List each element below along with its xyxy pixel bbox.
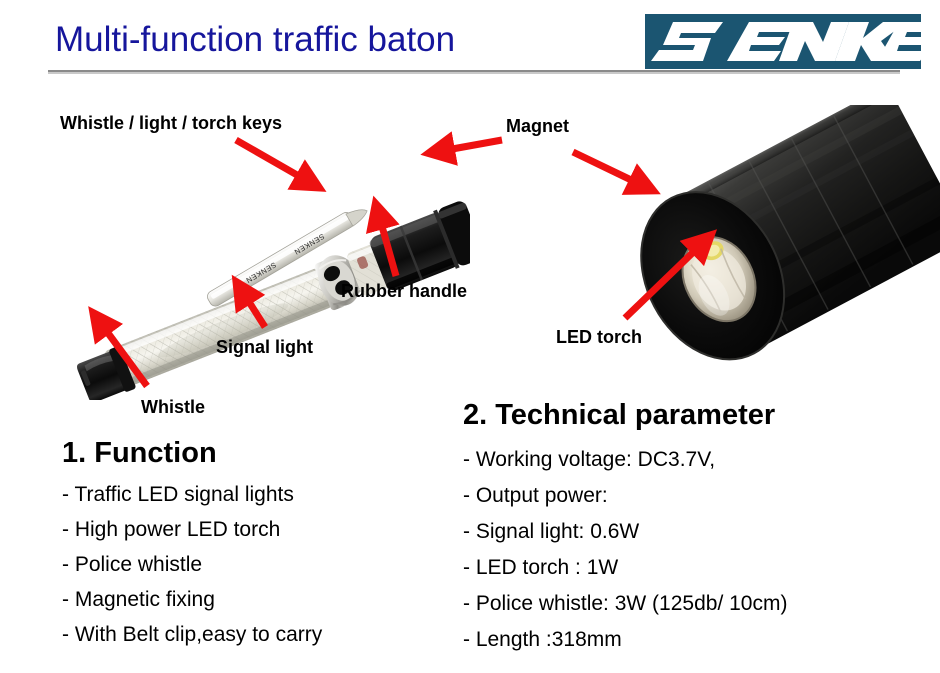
product-photo-torch-head bbox=[620, 105, 940, 395]
label-whistle: Whistle bbox=[141, 397, 205, 418]
technical-item-6: - Length :318mm bbox=[463, 628, 622, 652]
label-signal-light: Signal light bbox=[216, 337, 313, 358]
technical-item-2: - Output power: bbox=[463, 484, 608, 508]
section-heading-technical-parameter: 2. Technical parameter bbox=[463, 399, 775, 432]
label-rubber-handle: Rubber handle bbox=[341, 281, 467, 302]
function-item-2: - High power LED torch bbox=[62, 518, 280, 542]
function-item-5: - With Belt clip,easy to carry bbox=[62, 623, 322, 647]
page-title: Multi-function traffic baton bbox=[55, 20, 455, 60]
function-item-4: - Magnetic fixing bbox=[62, 588, 215, 612]
header-divider bbox=[48, 70, 900, 74]
label-whistle-light-torch-keys: Whistle / light / torch keys bbox=[60, 113, 282, 134]
technical-item-1: - Working voltage: DC3.7V, bbox=[463, 448, 715, 472]
product-photo-baton: SENKEN SENKEN bbox=[50, 120, 470, 400]
section-heading-function: 1. Function bbox=[62, 437, 217, 470]
label-led-torch: LED torch bbox=[556, 327, 642, 348]
slide-root: Multi-function traffic baton bbox=[0, 0, 940, 673]
technical-item-3: - Signal light: 0.6W bbox=[463, 520, 639, 544]
senken-logo bbox=[645, 14, 921, 69]
technical-item-4: - LED torch : 1W bbox=[463, 556, 618, 580]
function-item-1: - Traffic LED signal lights bbox=[62, 483, 294, 507]
label-magnet: Magnet bbox=[506, 116, 569, 137]
technical-item-5: - Police whistle: 3W (125db/ 10cm) bbox=[463, 592, 787, 616]
function-item-3: - Police whistle bbox=[62, 553, 202, 577]
